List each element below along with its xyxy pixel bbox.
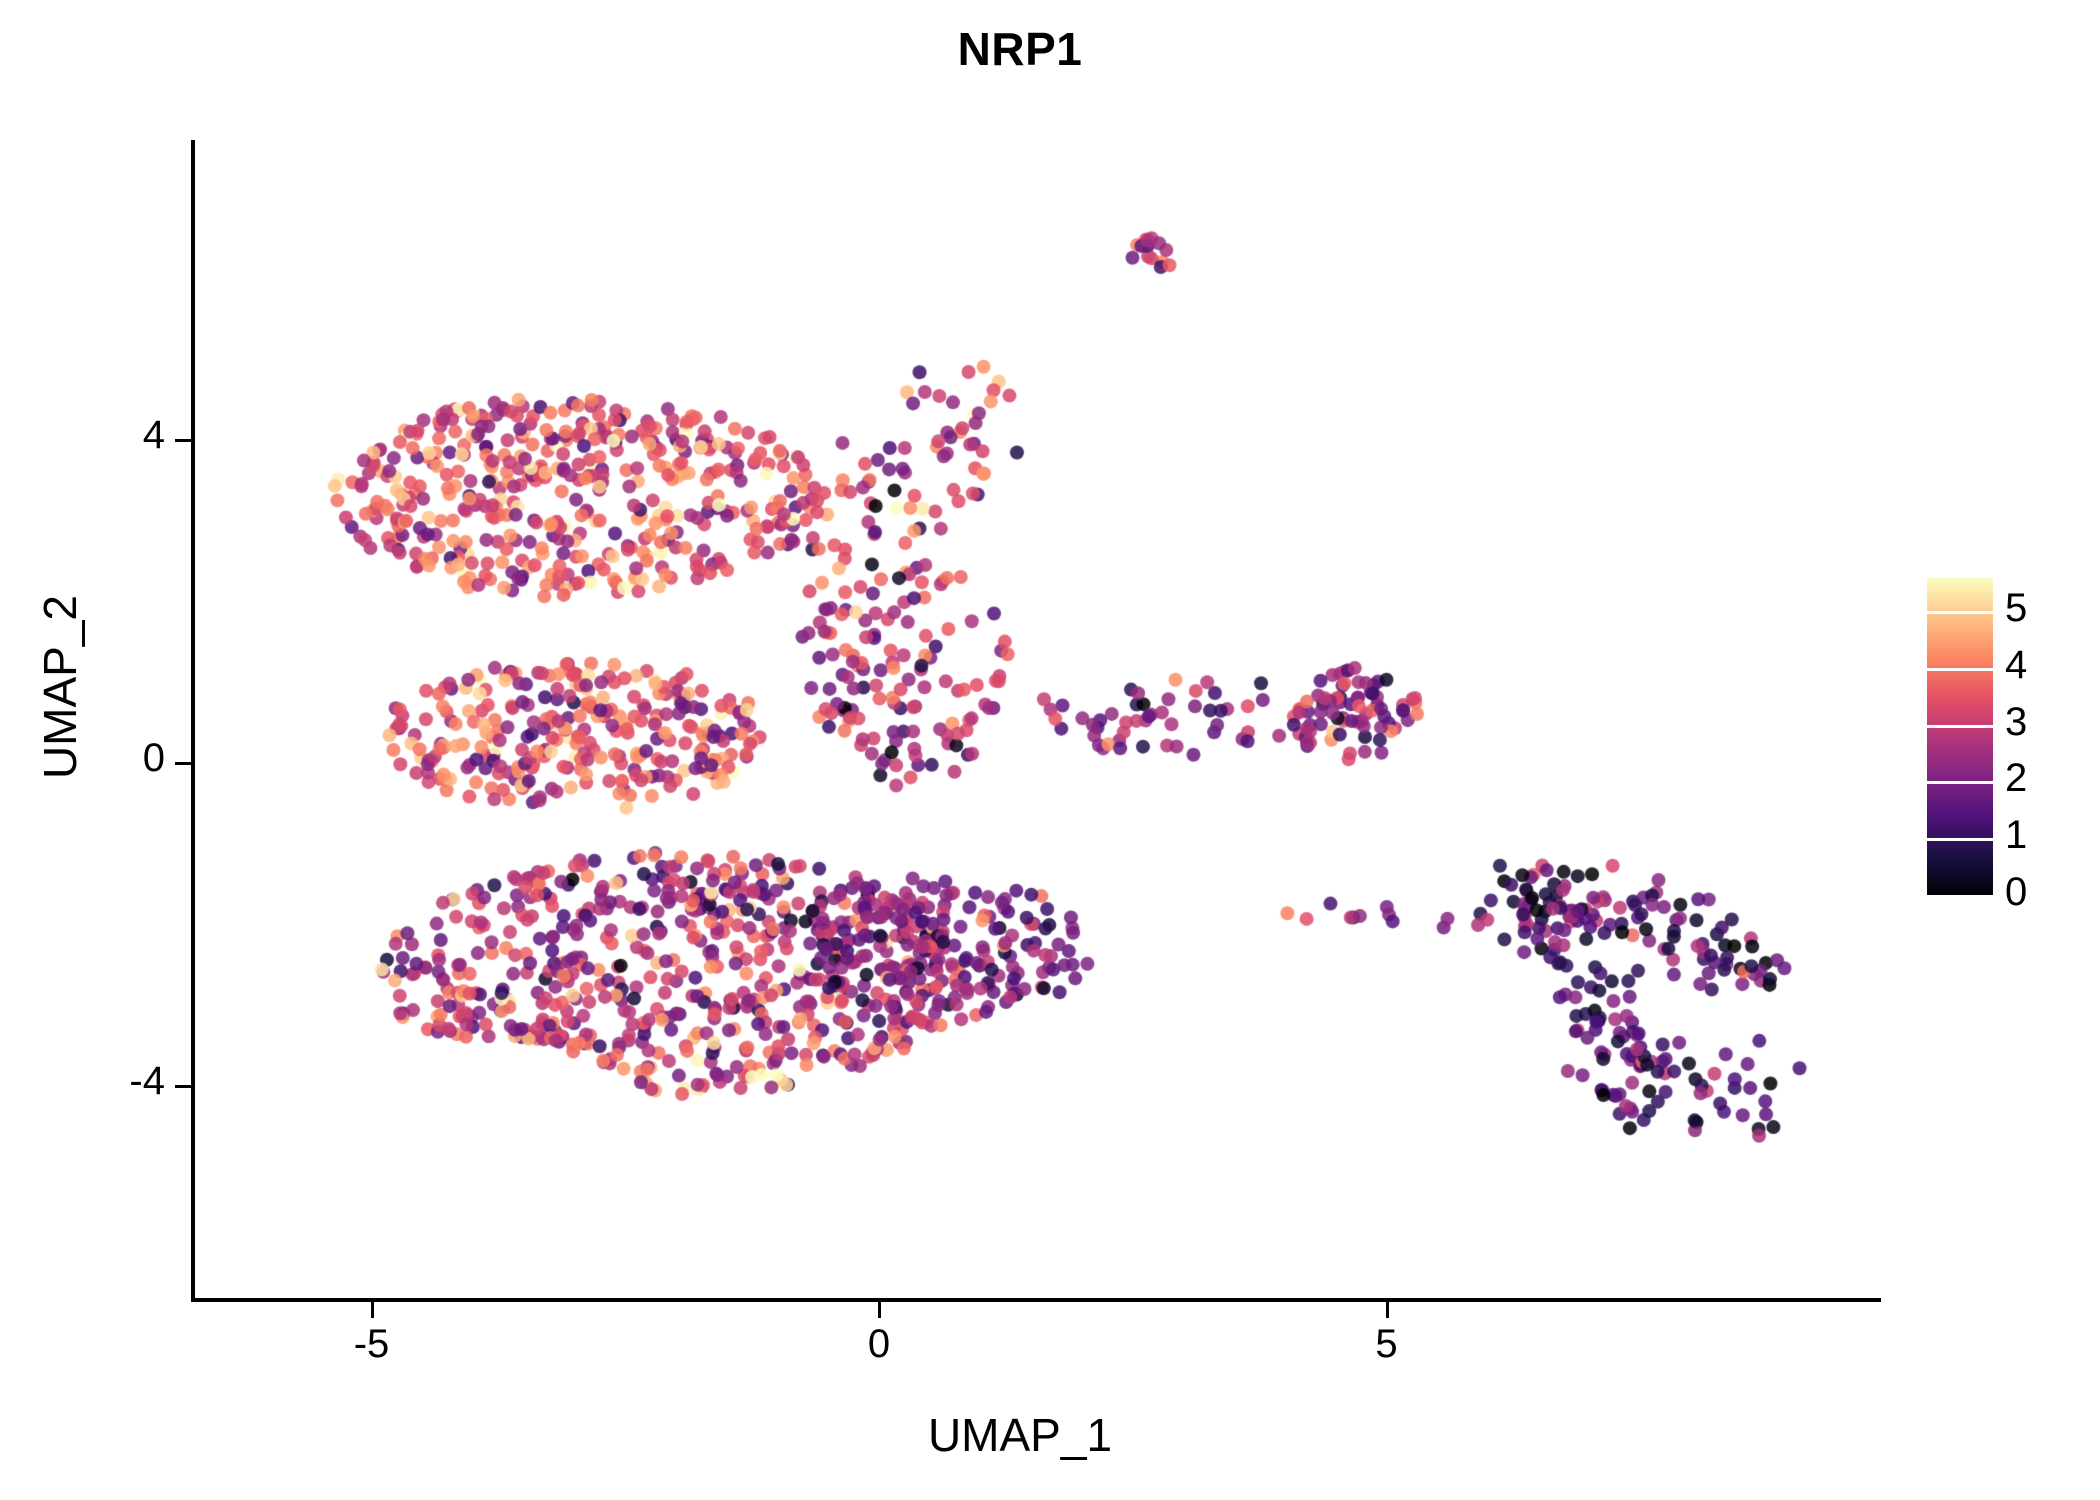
y-axis-title: UMAP_2 (33, 407, 87, 967)
expression-colorbar: 543210 (1927, 578, 2077, 896)
colorbar-tick-mark (1927, 838, 1993, 841)
colorbar-tick-mark (1927, 781, 1993, 784)
colorbar-tick-label: 3 (2005, 700, 2065, 745)
colorbar-tick-label: 4 (2005, 643, 2065, 688)
x-tick-mark (371, 1302, 374, 1318)
colorbar-tick-label: 1 (2005, 813, 2065, 858)
page-title: NRP1 (0, 22, 2040, 76)
y-tick-mark (175, 1085, 191, 1088)
y-tick-mark (175, 762, 191, 765)
x-axis-title: UMAP_1 (0, 1408, 2040, 1462)
x-tick-mark (1386, 1302, 1389, 1318)
colorbar-tick-mark (1927, 895, 1993, 898)
y-axis-line (191, 140, 195, 1302)
colorbar-gradient (1927, 578, 1993, 896)
x-tick-label: 0 (819, 1322, 939, 1367)
umap-feature-plot: NRP1 -505 40-4 UMAP_1 UMAP_2 543210 (0, 0, 2100, 1500)
scatter-plot-canvas (194, 140, 1880, 1300)
colorbar-tick-label: 2 (2005, 756, 2065, 801)
x-tick-label: 5 (1327, 1322, 1447, 1367)
colorbar-tick-label: 5 (2005, 586, 2065, 631)
x-tick-mark (878, 1302, 881, 1318)
colorbar-tick-mark (1927, 668, 1993, 671)
colorbar-tick-mark (1927, 611, 1993, 614)
colorbar-tick-label: 0 (2005, 870, 2065, 915)
y-tick-mark (175, 439, 191, 442)
colorbar-tick-mark (1927, 725, 1993, 728)
plot-panel (194, 140, 1880, 1300)
y-tick-label: -4 (55, 1059, 165, 1104)
x-axis-line (191, 1298, 1881, 1302)
x-tick-label: -5 (312, 1322, 432, 1367)
